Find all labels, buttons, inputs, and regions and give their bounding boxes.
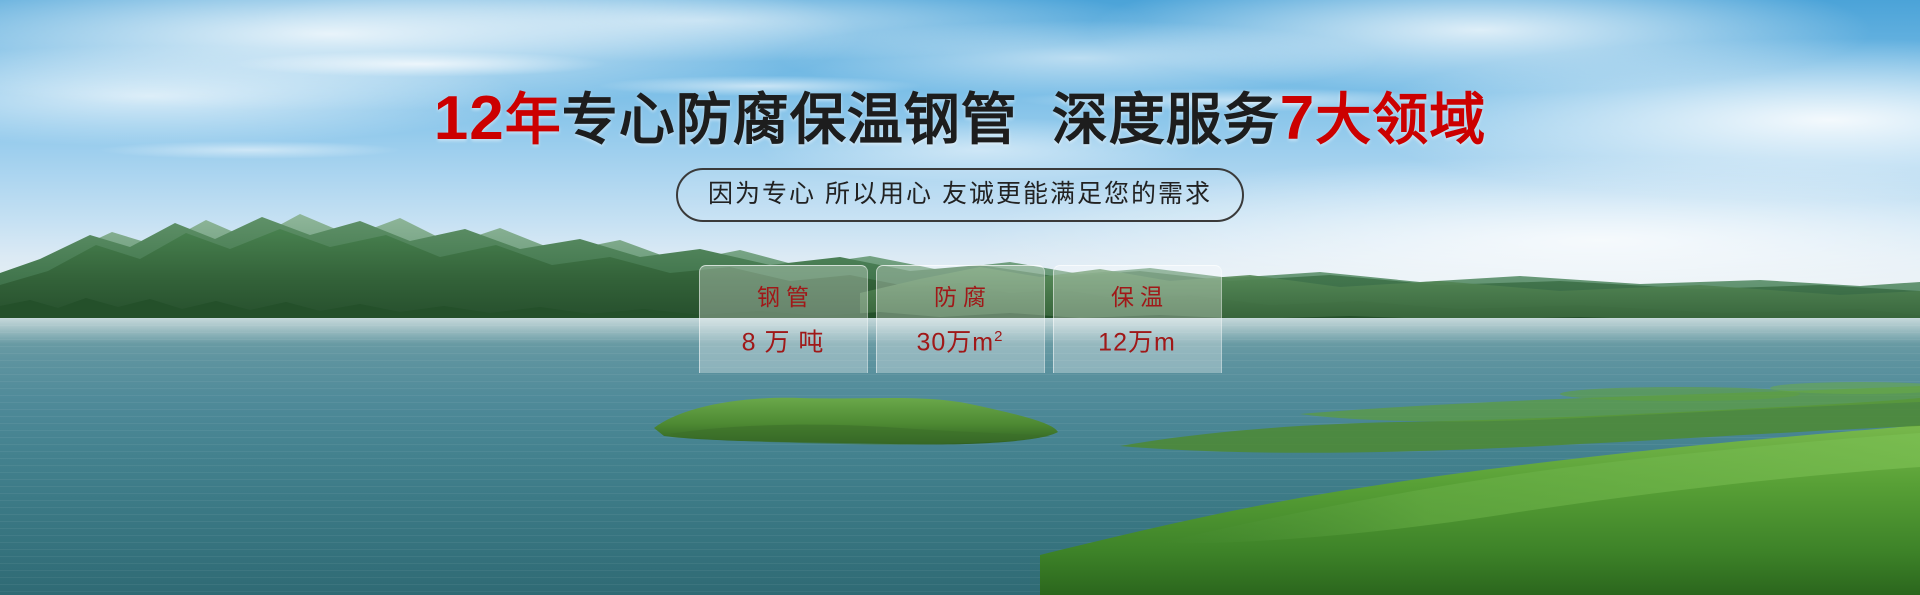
headline-fields-suffix: 大领域 (1315, 88, 1486, 151)
stat-card-unit-sup: 2 (994, 328, 1003, 345)
marsh-patches (1000, 380, 1920, 470)
subtitle-container: 因为专心 所以用心 友诚更能满足您的需求 (0, 168, 1920, 222)
stat-card-insulation[interactable]: 保温 12万m (1053, 265, 1222, 373)
headline-years-number: 12 (434, 84, 505, 153)
headline-years-suffix: 年 (505, 88, 562, 151)
headline-part-two: 深度服务 (1052, 88, 1280, 151)
banner-headline: 12年专心防腐保温钢管深度服务7大领域 (0, 88, 1920, 151)
stat-card-label: 保温 (1105, 283, 1169, 311)
stat-cards: 钢管 8 万 吨 防腐 30万m2 保温 12万m (0, 265, 1920, 373)
headline-fields-number: 7 (1280, 84, 1315, 153)
headline-part-one: 专心防腐保温钢管 (562, 88, 1018, 151)
stat-card-label: 防腐 (928, 283, 992, 311)
stat-card-value: 30万m2 (917, 323, 1004, 356)
stat-card-value: 8 万 吨 (742, 323, 825, 356)
stat-card-label: 钢管 (751, 283, 815, 311)
foreground-grass (0, 537, 1920, 595)
stat-card-anticorrosion[interactable]: 防腐 30万m2 (876, 265, 1045, 373)
hero-banner: 12年专心防腐保温钢管深度服务7大领域 因为专心 所以用心 友诚更能满足您的需求… (0, 0, 1920, 595)
stat-card-value: 12万m (1098, 323, 1176, 356)
stat-card-steel-pipe[interactable]: 钢管 8 万 吨 (699, 265, 868, 373)
subtitle-pill: 因为专心 所以用心 友诚更能满足您的需求 (676, 168, 1244, 222)
grass-island (640, 388, 1060, 448)
